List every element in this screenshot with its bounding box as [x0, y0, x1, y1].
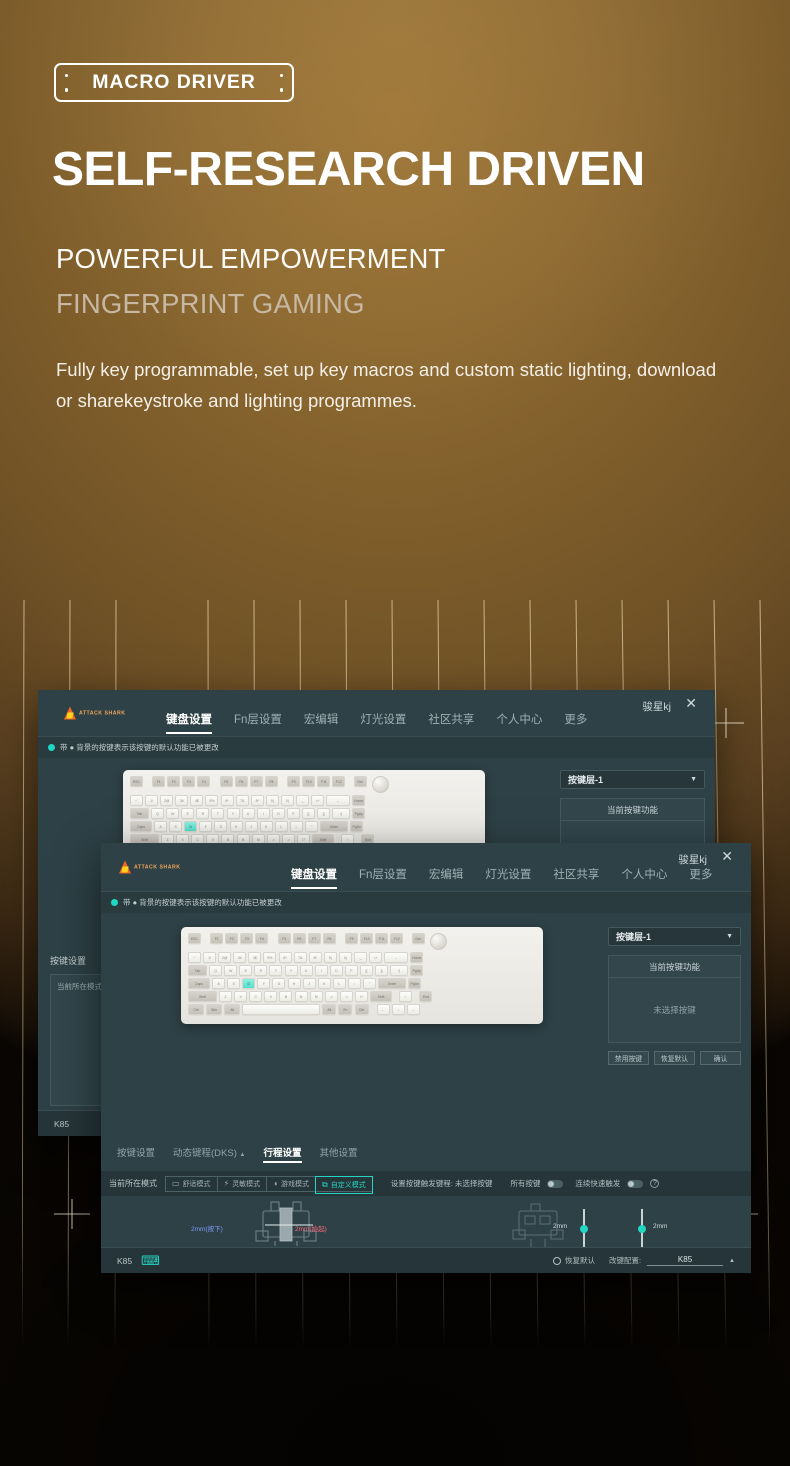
keycap-i[interactable]: I: [257, 808, 270, 819]
keycap-a[interactable]: A: [212, 978, 225, 989]
back-tab-fn-layer[interactable]: Fn层设置: [234, 711, 282, 734]
keycap-0[interactable]: 0): [281, 795, 294, 806]
keycap-v[interactable]: V: [264, 991, 277, 1002]
back-tab-macro-editor[interactable]: 宏编辑: [304, 711, 339, 734]
front-user-name[interactable]: 骏星kj: [678, 852, 707, 867]
restore-default-status-button[interactable]: 恢复默认: [553, 1255, 595, 1266]
keycap-space[interactable]: ←: [384, 952, 408, 963]
front-tab-profile[interactable]: 个人中心: [621, 866, 667, 889]
keycap-z[interactable]: Z: [219, 991, 232, 1002]
keycap-g[interactable]: G: [272, 978, 285, 989]
subtab-dks-label: 动态键程(DKS): [173, 1148, 237, 1159]
keycap-x[interactable]: X: [234, 991, 247, 1002]
keycap-space[interactable]: '": [305, 821, 318, 832]
custom-icon: ⧉: [322, 1181, 328, 1189]
keycap-f7[interactable]: F7: [308, 933, 321, 944]
keycap-8[interactable]: 8*: [251, 795, 264, 806]
close-icon[interactable]: ✕: [721, 849, 733, 863]
keycap-j[interactable]: J: [303, 978, 316, 989]
keyboard-row: ESCF1F2F3F4F5F6F7F8F9F10F11F12Del: [130, 776, 478, 793]
back-tab-keyboard-settings[interactable]: 键盘设置: [166, 711, 212, 734]
front-function-box-body: 未选择按键: [609, 978, 740, 1042]
front-tab-lighting[interactable]: 灯光设置: [485, 866, 531, 889]
keyboard-row: ~`1!2@3#4$5%6^7&8*9(0)-_=+←Home: [188, 952, 536, 963]
keycap-space[interactable]: ]}: [375, 965, 388, 976]
badge-label: MACRO DRIVER: [92, 71, 256, 94]
keyboard-preview-front[interactable]: ESCF1F2F3F4F5F6F7F8F9F10F11F12Del~`1!2@3…: [181, 927, 543, 1024]
mode-game-label: 游戏模式: [281, 1179, 309, 1189]
keycap-f11[interactable]: F11: [375, 933, 388, 944]
back-status-model: K85: [54, 1119, 69, 1129]
keycap-t[interactable]: T: [211, 808, 224, 819]
keycap-o[interactable]: O: [272, 808, 285, 819]
keycap-e[interactable]: E: [239, 965, 252, 976]
keycap-pgup[interactable]: PgUp: [410, 965, 423, 976]
keycap-t[interactable]: T: [269, 965, 282, 976]
press-slider[interactable]: [583, 1209, 585, 1251]
keycap-o[interactable]: O: [330, 965, 343, 976]
keycap-0[interactable]: 0): [339, 952, 352, 963]
keycap-enter[interactable]: Enter: [378, 978, 406, 989]
keycap-f12[interactable]: F12: [390, 933, 403, 944]
keycap-f4[interactable]: F4: [255, 933, 268, 944]
mode-comfort-button[interactable]: ▭ 舒适模式: [166, 1177, 218, 1191]
press-slider-handle[interactable]: [580, 1225, 588, 1233]
front-right-panel: 按键层-1 ▼ 当前按键功能 未选择按键 禁用按键 恢复默认 确认: [608, 927, 741, 1065]
trigger-label: 设置按键触发键程: 未选择按键: [391, 1178, 493, 1189]
front-layer-select[interactable]: 按键层-1 ▼: [608, 927, 741, 946]
release-travel-label: 2mm(抬起): [295, 1223, 327, 1233]
keycap-b[interactable]: B: [279, 991, 292, 1002]
lightning-icon: ⚡: [224, 1180, 230, 1188]
keycap-5[interactable]: 5%: [205, 795, 218, 806]
keycap-space[interactable]: .>: [340, 991, 353, 1002]
keycap-7[interactable]: 7&: [294, 952, 307, 963]
back-layer-select-value: 按键层-1: [568, 773, 603, 786]
page-background: MACRO DRIVER SELF-RESEARCH DRIVEN POWERF…: [0, 0, 790, 1466]
keycap-space[interactable]: \|: [332, 808, 350, 819]
keycap-3[interactable]: 3#: [233, 952, 246, 963]
front-nav-tabs[interactable]: 键盘设置 Fn层设置 宏编辑 灯光设置 社区共享 个人中心 更多: [291, 866, 712, 889]
keycap-space[interactable]: ~`: [130, 795, 143, 806]
subtab-other-settings[interactable]: 其他设置: [320, 1145, 358, 1163]
front-tab-fn-layer[interactable]: Fn层设置: [359, 866, 407, 889]
keycap-f2[interactable]: F2: [225, 933, 238, 944]
rapid-trigger-label: 连续快速触发: [575, 1178, 620, 1189]
keycap-4[interactable]: 4$: [248, 952, 261, 963]
keycap-f[interactable]: F: [199, 821, 212, 832]
disable-key-button[interactable]: 禁用按键: [608, 1051, 649, 1065]
keycap-f9[interactable]: F9: [345, 933, 358, 944]
keycap-pgup[interactable]: PgUp: [352, 808, 365, 819]
front-function-box: 当前按键功能 未选择按键: [608, 955, 741, 1043]
keycap-q[interactable]: Q: [209, 965, 222, 976]
keycap-space[interactable]: ↓: [392, 1004, 405, 1015]
macro-driver-badge: MACRO DRIVER: [54, 63, 294, 102]
trigger-settings-group: 设置按键触发键程: 未选择按键: [391, 1178, 493, 1189]
chevron-down-icon: ▼: [726, 933, 733, 940]
keycap-space[interactable]: -_: [354, 952, 367, 963]
keycap-tab[interactable]: Tab: [188, 965, 207, 976]
keycap-f3[interactable]: F3: [240, 933, 253, 944]
notice-dot-icon: [111, 899, 118, 906]
keycap-esc[interactable]: ESC: [130, 776, 143, 787]
feather-icon: ▭: [172, 1180, 180, 1188]
keycap-f1[interactable]: F1: [210, 933, 223, 944]
keycap-s[interactable]: S: [169, 821, 182, 832]
keycap-f10[interactable]: F10: [360, 933, 373, 944]
brand-logo: ATTACK SHARK: [64, 707, 125, 720]
keycap-j[interactable]: J: [245, 821, 258, 832]
keycap-f3[interactable]: F3: [182, 776, 195, 787]
release-mm-value: 2mm: [653, 1223, 667, 1230]
keycap-space[interactable]: ←: [377, 1004, 390, 1015]
keycap-space[interactable]: →: [407, 1004, 420, 1015]
back-left-panel-body: 当前所在模式: [57, 982, 102, 991]
keycap-u[interactable]: U: [300, 965, 313, 976]
keycap-s[interactable]: S: [227, 978, 240, 989]
keycap-ctrl[interactable]: Ctrl: [188, 1004, 204, 1015]
keycap-1[interactable]: 1!: [145, 795, 158, 806]
keycap-d[interactable]: D: [242, 978, 255, 989]
keycap-shift[interactable]: Shift: [370, 991, 392, 1002]
front-tab-macro-editor[interactable]: 宏编辑: [429, 866, 464, 889]
keycap-f10[interactable]: F10: [302, 776, 315, 787]
keycap-del[interactable]: Del: [354, 776, 367, 787]
software-window-front[interactable]: ATTACK SHARK 键盘设置 Fn层设置 宏编辑 灯光设置 社区共享 个人…: [101, 843, 751, 1273]
keycap-p[interactable]: P: [287, 808, 300, 819]
chevron-up-icon: ▲: [729, 1258, 735, 1264]
keycap-win[interactable]: Win: [206, 1004, 222, 1015]
keycap-space[interactable]: ,<: [325, 991, 338, 1002]
back-tab-profile[interactable]: 个人中心: [496, 711, 542, 734]
back-tab-lighting[interactable]: 灯光设置: [360, 711, 406, 734]
front-notice-bar: 带 ● 背景的按键表示该按键的默认功能已被更改: [101, 891, 751, 913]
keyboard-row: CtrlWinAltAltFnCtrl←↓→: [188, 1004, 536, 1015]
keycap-caps[interactable]: Caps: [188, 978, 210, 989]
keycap-f2[interactable]: F2: [167, 776, 180, 787]
keycap-space[interactable]: ↑: [399, 991, 412, 1002]
mode-sensitive-label: 灵敏模式: [232, 1179, 260, 1189]
pacman-icon: ◖: [273, 1180, 278, 1188]
keyboard-row: CapsASDFGHJKL;:'"EnterPgDn: [130, 821, 478, 832]
keycap-r[interactable]: R: [254, 965, 267, 976]
front-panel-buttons: 禁用按键 恢复默认 确认: [608, 1051, 741, 1065]
keycap-tab[interactable]: Tab: [130, 808, 149, 819]
keycap-l[interactable]: L: [333, 978, 346, 989]
back-titlebar: ATTACK SHARK 键盘设置 Fn层设置 宏编辑 灯光设置 社区共享 个人…: [38, 690, 715, 736]
rotary-knob[interactable]: [372, 776, 389, 793]
all-keys-toggle[interactable]: [547, 1180, 563, 1188]
shark-logo-icon: [64, 707, 76, 720]
keyboard-row: TabQWERTYUIOP[{]}\|PgUp: [130, 808, 478, 819]
keycap-f12[interactable]: F12: [332, 776, 345, 787]
rapid-trigger-toggle-group[interactable]: 连续快速触发 ?: [575, 1178, 659, 1189]
keycap-6[interactable]: 6^: [279, 952, 292, 963]
config-selector[interactable]: 改键配置: K85 ▲: [609, 1255, 735, 1266]
keycap-esc[interactable]: ESC: [188, 933, 201, 944]
mode-comfort-label: 舒适模式: [183, 1179, 211, 1189]
brand-logo-front: ATTACK SHARK: [119, 861, 180, 874]
keycap-a[interactable]: A: [154, 821, 167, 832]
mode-custom-button[interactable]: ⧉ 自定义模式: [315, 1176, 373, 1194]
front-function-box-header: 当前按键功能: [609, 956, 740, 978]
keycap-space[interactable]: [242, 1004, 320, 1015]
keycap-shift[interactable]: Shift: [188, 991, 217, 1002]
keycap-space[interactable]: ]}: [317, 808, 330, 819]
mode-game-button[interactable]: ◖ 游戏模式: [267, 1177, 316, 1191]
confirm-button[interactable]: 确认: [700, 1051, 741, 1065]
keycap-7[interactable]: 7&: [236, 795, 249, 806]
keycap-2[interactable]: 2@: [160, 795, 173, 806]
badge-dots-left: [65, 74, 68, 92]
keycap-space[interactable]: -_: [296, 795, 309, 806]
keycap-m[interactable]: M: [310, 991, 323, 1002]
front-status-model: K85: [117, 1256, 132, 1266]
keycap-f5[interactable]: F5: [220, 776, 233, 787]
keycap-9[interactable]: 9(: [266, 795, 279, 806]
keycap-f8[interactable]: F8: [323, 933, 336, 944]
keycap-f5[interactable]: F5: [278, 933, 291, 944]
keycap-f1[interactable]: F1: [152, 776, 165, 787]
keycap-space[interactable]: =+: [369, 952, 382, 963]
hero-paragraph: Fully key programmable, set up key macro…: [56, 354, 736, 416]
keycap-space[interactable]: ~`: [188, 952, 201, 963]
subhead-one: POWERFUL EMPOWERMENT: [56, 243, 446, 275]
mode-bar-label: 当前所在模式: [101, 1178, 165, 1189]
front-tab-keyboard-settings[interactable]: 键盘设置: [291, 866, 337, 889]
status-bar-right: 恢复默认 改键配置: K85 ▲: [553, 1255, 735, 1266]
release-slider[interactable]: [641, 1209, 643, 1251]
keycap-i[interactable]: I: [315, 965, 328, 976]
keycap-space[interactable]: ;:: [290, 821, 303, 832]
keycap-space[interactable]: [{: [302, 808, 315, 819]
subtab-travel-settings[interactable]: 行程设置: [263, 1145, 301, 1163]
front-tab-more[interactable]: 更多: [689, 866, 712, 889]
back-tab-community[interactable]: 社区共享: [428, 711, 474, 734]
restore-default-button[interactable]: 恢复默认: [654, 1051, 695, 1065]
close-icon[interactable]: ✕: [685, 696, 697, 710]
keyboard-row: ESCF1F2F3F4F5F6F7F8F9F10F11F12Del: [188, 933, 536, 950]
question-icon[interactable]: ?: [650, 1179, 659, 1188]
keycap-4[interactable]: 4$: [190, 795, 203, 806]
keycap-space[interactable]: /?: [355, 991, 368, 1002]
all-keys-toggle-group[interactable]: 所有按键: [510, 1178, 563, 1189]
keycap-h[interactable]: H: [288, 978, 301, 989]
keycap-enter[interactable]: Enter: [320, 821, 348, 832]
back-user-name[interactable]: 骏星kj: [642, 699, 671, 714]
front-notice-text: 带 ● 背景的按键表示该按键的默认功能已被更改: [123, 897, 282, 908]
keycap-f8[interactable]: F8: [265, 776, 278, 787]
keycap-home[interactable]: Home: [410, 952, 423, 963]
back-function-box-header: 当前按键功能: [561, 799, 704, 821]
keycap-alt[interactable]: Alt: [224, 1004, 240, 1015]
keycap-space[interactable]: =+: [311, 795, 324, 806]
keycap-pgdn[interactable]: PgDn: [350, 821, 363, 832]
headline: SELF-RESEARCH DRIVEN: [52, 145, 645, 195]
keycap-alt[interactable]: Alt: [322, 1004, 336, 1015]
keycap-q[interactable]: Q: [151, 808, 164, 819]
keycap-f7[interactable]: F7: [250, 776, 263, 787]
keycap-h[interactable]: H: [230, 821, 243, 832]
keycap-f4[interactable]: F4: [197, 776, 210, 787]
keycap-y[interactable]: Y: [227, 808, 240, 819]
keycap-pgdn[interactable]: PgDn: [408, 978, 421, 989]
keycap-k[interactable]: K: [260, 821, 273, 832]
keycap-n[interactable]: N: [295, 991, 308, 1002]
keycap-space[interactable]: ;:: [348, 978, 361, 989]
back-notice-bar: 带 ● 背景的按键表示该按键的默认功能已被更改: [38, 736, 715, 758]
mode-button-group[interactable]: ▭ 舒适模式 ⚡ 灵敏模式 ◖ 游戏模式 ⧉ 自定义模式: [165, 1176, 373, 1192]
keycap-k[interactable]: K: [318, 978, 331, 989]
front-status-bar: K85 ⌨ 恢复默认 改键配置: K85 ▲: [101, 1247, 751, 1273]
keycap-y[interactable]: Y: [285, 965, 298, 976]
keycap-e[interactable]: E: [181, 808, 194, 819]
keyboard-row: TabQWERTYUIOP[{]}\|PgUp: [188, 965, 536, 976]
front-window-body: ESCF1F2F3F4F5F6F7F8F9F10F11F12Del~`1!2@3…: [101, 913, 751, 1273]
keycap-f11[interactable]: F11: [317, 776, 330, 787]
brand-wordmark-front: ATTACK SHARK: [134, 864, 180, 870]
keycap-fn[interactable]: Fn: [338, 1004, 352, 1015]
rotary-knob[interactable]: [430, 933, 447, 950]
front-sub-tabs[interactable]: 按键设置 动态键程(DKS) ▲ 行程设置 其他设置: [117, 1145, 358, 1163]
notice-dot-icon: [48, 744, 55, 751]
mode-custom-label: 自定义模式: [331, 1180, 366, 1190]
keycap-9[interactable]: 9(: [324, 952, 337, 963]
keyboard-row: ~`1!2@3#4$5%6^7&8*9(0)-_=+←Home: [130, 795, 478, 806]
back-notice-text: 带 ● 背景的按键表示该按键的默认功能已被更改: [60, 742, 219, 753]
keycap-g[interactable]: G: [214, 821, 227, 832]
keycap-space[interactable]: '": [363, 978, 376, 989]
keycap-space[interactable]: \|: [390, 965, 408, 976]
keycap-p[interactable]: P: [345, 965, 358, 976]
keycap-f6[interactable]: F6: [293, 933, 306, 944]
chevron-down-icon: ▼: [690, 776, 697, 783]
keycap-d[interactable]: D: [184, 821, 197, 832]
keycap-f9[interactable]: F9: [287, 776, 300, 787]
keycap-w[interactable]: W: [224, 965, 237, 976]
subtab-dks[interactable]: 动态键程(DKS) ▲: [173, 1145, 245, 1163]
keycap-f[interactable]: F: [257, 978, 270, 989]
badge-dots-right: [280, 74, 283, 92]
release-slider-handle[interactable]: [638, 1225, 646, 1233]
subtab-key-settings[interactable]: 按键设置: [117, 1145, 155, 1163]
back-nav-tabs[interactable]: 键盘设置 Fn层设置 宏编辑 灯光设置 社区共享 个人中心 更多: [166, 711, 587, 734]
keycap-r[interactable]: R: [196, 808, 209, 819]
keycap-2[interactable]: 2@: [218, 952, 231, 963]
keycap-space[interactable]: ←: [326, 795, 350, 806]
keyboard-row: ShiftZXCVBNM,<.>/?Shift↑End: [188, 991, 536, 1002]
back-layer-select[interactable]: 按键层-1 ▼: [560, 770, 705, 789]
shark-logo-icon: [119, 861, 131, 874]
chevron-up-icon: ▲: [240, 1152, 246, 1158]
keycap-u[interactable]: U: [242, 808, 255, 819]
mode-sensitive-button[interactable]: ⚡ 灵敏模式: [218, 1177, 268, 1191]
keycap-f6[interactable]: F6: [235, 776, 248, 787]
front-layer-select-value: 按键层-1: [616, 930, 651, 943]
keyboard-row: CapsASDFGHJKL;:'"EnterPgDn: [188, 978, 536, 989]
refresh-icon: [553, 1257, 561, 1265]
keycap-3[interactable]: 3#: [175, 795, 188, 806]
keycap-end[interactable]: End: [419, 991, 432, 1002]
press-mm-value: 2mm: [553, 1223, 567, 1230]
keycap-ctrl[interactable]: Ctrl: [355, 1004, 369, 1015]
keycap-1[interactable]: 1!: [203, 952, 216, 963]
front-titlebar: ATTACK SHARK 键盘设置 Fn层设置 宏编辑 灯光设置 社区共享 个人…: [101, 843, 751, 891]
keycap-home[interactable]: Home: [352, 795, 365, 806]
rapid-trigger-toggle[interactable]: [627, 1180, 643, 1188]
keycap-del[interactable]: Del: [412, 933, 425, 944]
keycap-caps[interactable]: Caps: [130, 821, 152, 832]
keycap-c[interactable]: C: [249, 991, 262, 1002]
keycap-8[interactable]: 8*: [309, 952, 322, 963]
keycap-5[interactable]: 5%: [263, 952, 276, 963]
config-value[interactable]: K85: [647, 1255, 723, 1266]
press-travel-label: 2mm(按下): [191, 1223, 223, 1233]
subhead-two: FINGERPRINT GAMING: [56, 288, 365, 320]
config-label: 改键配置:: [609, 1255, 641, 1266]
restore-default-status-label: 恢复默认: [565, 1255, 595, 1266]
back-tab-more[interactable]: 更多: [564, 711, 587, 734]
keycap-l[interactable]: L: [275, 821, 288, 832]
front-tab-community[interactable]: 社区共享: [553, 866, 599, 889]
keycap-space[interactable]: [{: [360, 965, 373, 976]
keycap-6[interactable]: 6^: [221, 795, 234, 806]
keycap-w[interactable]: W: [166, 808, 179, 819]
mode-toolbar: 当前所在模式 ▭ 舒适模式 ⚡ 灵敏模式 ◖ 游戏模式 ⧉: [101, 1171, 751, 1196]
brand-wordmark: ATTACK SHARK: [79, 710, 125, 716]
all-keys-label: 所有按键: [510, 1178, 540, 1189]
keyboard-icon[interactable]: ⌨: [141, 1254, 160, 1267]
